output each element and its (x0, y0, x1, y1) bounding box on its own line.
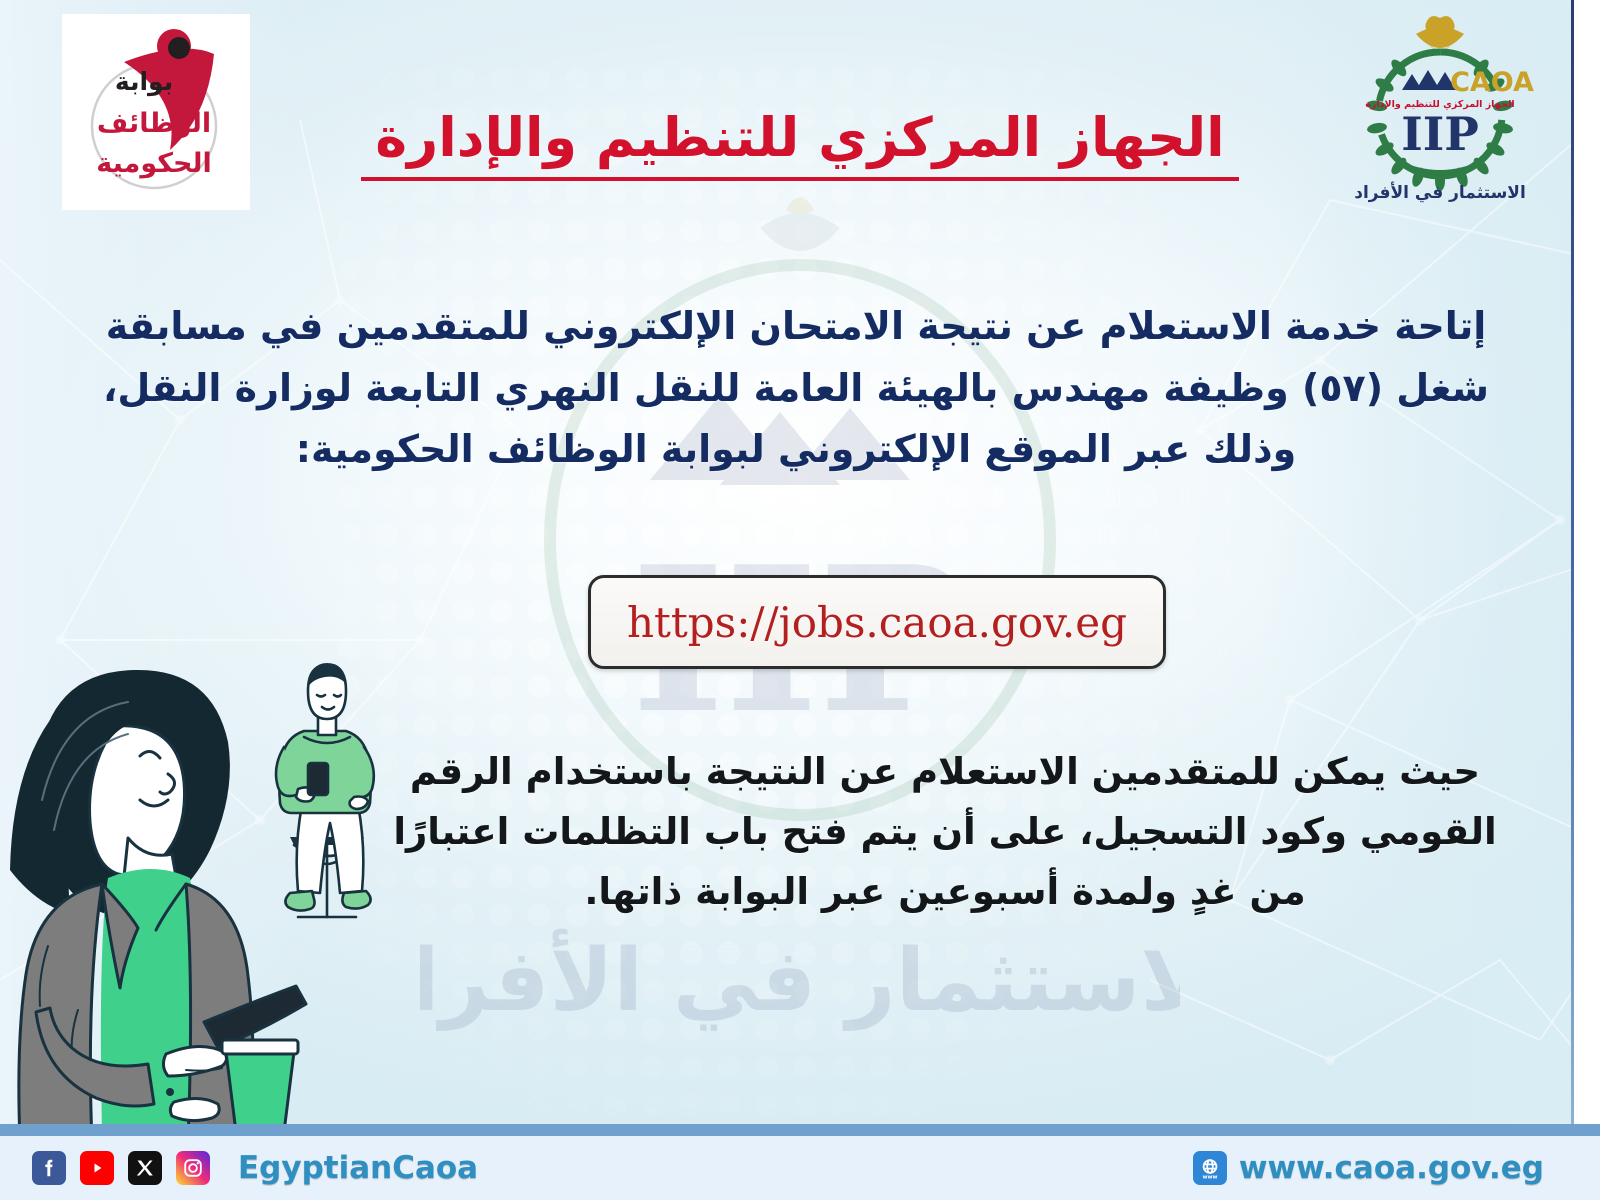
portal-url-box[interactable]: https://jobs.caoa.gov.eg (588, 575, 1166, 669)
announcement-paragraph-primary: إتاحة خدمة الاستعلام عن نتيجة الامتحان ا… (70, 296, 1522, 481)
x-twitter-icon[interactable] (128, 1151, 162, 1185)
illustration-woman-with-phone (0, 640, 370, 1140)
globe-www-icon[interactable]: www (1193, 1151, 1227, 1185)
portal-url-text[interactable]: https://jobs.caoa.gov.eg (627, 598, 1127, 647)
svg-text:www: www (1202, 1174, 1217, 1180)
website-url[interactable]: www.caoa.gov.eg (1239, 1150, 1544, 1186)
logo-line-1: بوابة (115, 67, 173, 97)
social-links-group: EgyptianCaoa (32, 1150, 478, 1186)
social-handle[interactable]: EgyptianCaoa (238, 1150, 478, 1186)
announcement-paragraph-secondary: حيث يمكن للمتقدمين الاستعلام عن النتيجة … (378, 742, 1512, 922)
egypt-eagle-emblem (1416, 16, 1464, 51)
youtube-icon[interactable] (80, 1151, 114, 1185)
page-title: الجهاز المركزي للتنظيم والإدارة (361, 108, 1238, 181)
caoa-acronym: CAOA (1450, 67, 1534, 98)
pyramids-icon (1402, 70, 1456, 90)
facebook-icon[interactable] (32, 1151, 66, 1185)
footer-bar: EgyptianCaoa www www.caoa.gov.eg (0, 1136, 1600, 1200)
page-title-wrap: الجهاز المركزي للتنظيم والإدارة (0, 108, 1600, 181)
iip-arabic-label: الاستثمار في الأفراد (1354, 182, 1526, 203)
watermark-text: الاستثمار في الأفراد (420, 929, 1180, 1031)
announcement-poster: IIP الاستثمار في الأفراد بوابة الوظائف ا… (0, 0, 1600, 1200)
footer-divider (0, 1124, 1600, 1136)
instagram-icon[interactable] (176, 1151, 210, 1185)
website-link-group[interactable]: www www.caoa.gov.eg (1193, 1150, 1544, 1186)
